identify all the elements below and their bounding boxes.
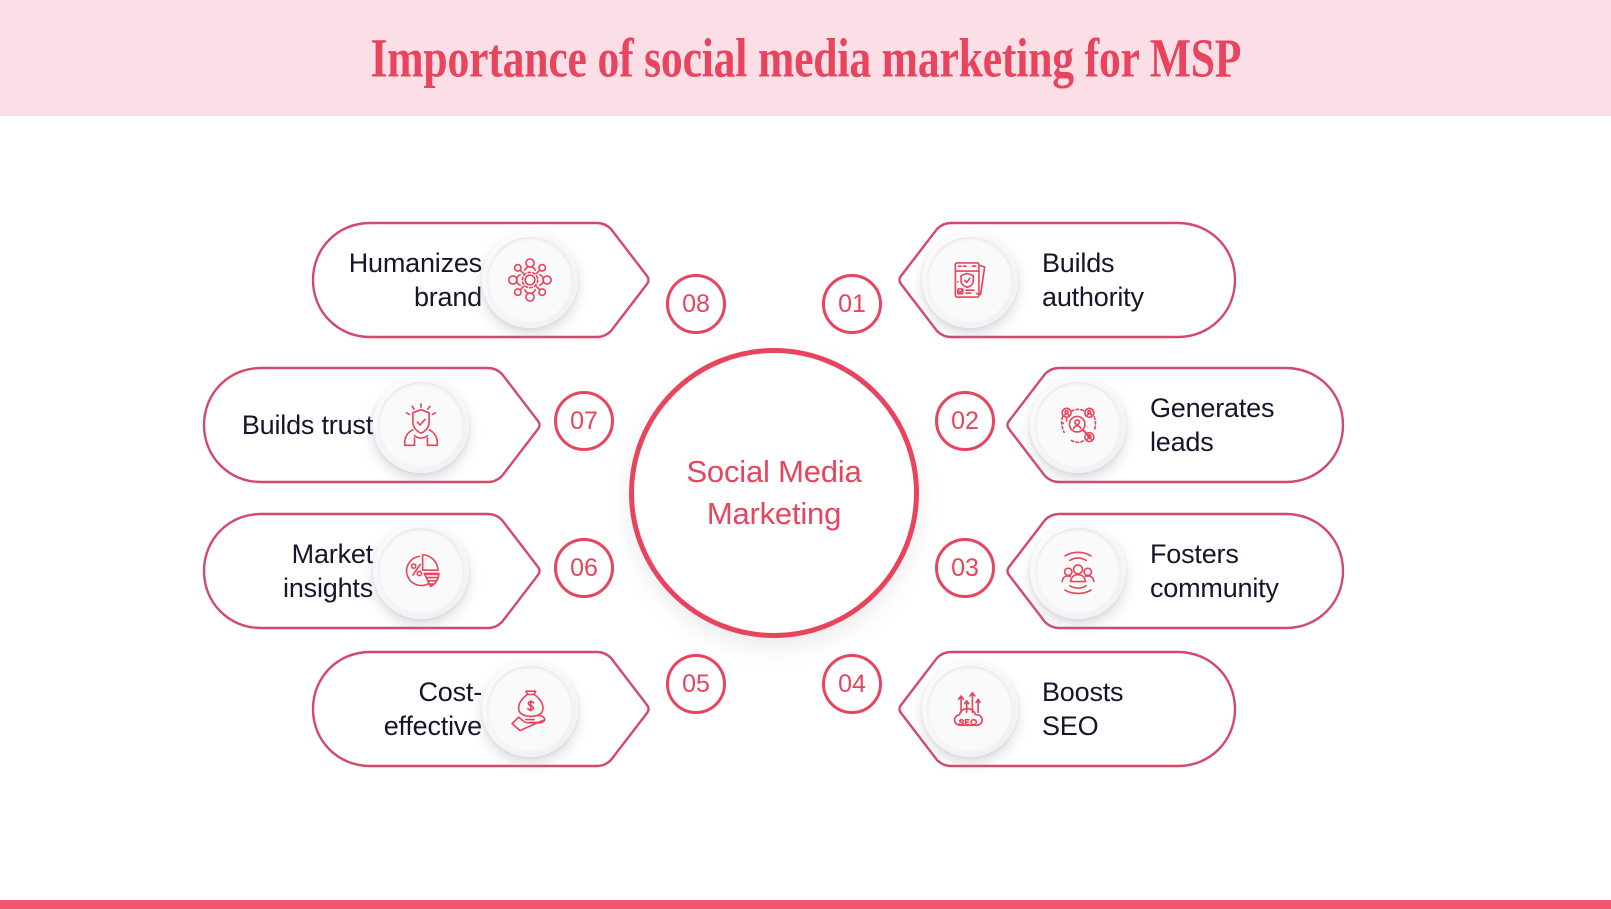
item-pill-03[interactable]: Fosterscommunity xyxy=(1000,512,1345,630)
people-group-arcs-icon xyxy=(1030,523,1126,619)
item-pill-04[interactable]: BoostsSEO xyxy=(892,650,1237,768)
document-shield-checklist-icon xyxy=(922,232,1018,328)
item-label-03: Fosterscommunity xyxy=(1150,537,1311,605)
infographic-root: Importance of social media marketing for… xyxy=(0,0,1611,909)
seo-cloud-growth-icon xyxy=(922,661,1018,757)
item-pill-08[interactable]: Humanizesbrand xyxy=(311,221,656,339)
item-label-02: Generatesleads xyxy=(1150,391,1311,459)
item-pill-05[interactable]: Cost-effective xyxy=(311,650,656,768)
page-title: Importance of social media marketing for… xyxy=(370,26,1241,89)
center-circle: Social MediaMarketing xyxy=(629,348,919,638)
item-label-07: Builds trust xyxy=(236,408,373,442)
header-band: Importance of social media marketing for… xyxy=(0,0,1611,116)
item-number-07: 07 xyxy=(554,391,614,451)
item-label-05: Cost-effective xyxy=(345,675,482,743)
hand-money-bag-icon xyxy=(482,661,578,757)
center-label: Social MediaMarketing xyxy=(686,451,861,535)
item-label-04: BoostsSEO xyxy=(1042,675,1203,743)
item-label-01: Buildsauthority xyxy=(1042,246,1203,314)
item-pill-07[interactable]: Builds trust xyxy=(202,366,547,484)
item-pill-06[interactable]: Marketinsights xyxy=(202,512,547,630)
item-number-08: 08 xyxy=(666,274,726,334)
item-pill-02[interactable]: Generatesleads xyxy=(1000,366,1345,484)
magnifier-users-target-icon xyxy=(1030,377,1126,473)
item-number-05: 05 xyxy=(666,654,726,714)
item-label-06: Marketinsights xyxy=(236,537,373,605)
item-number-03: 03 xyxy=(935,538,995,598)
item-pill-01[interactable]: Buildsauthority xyxy=(892,221,1237,339)
item-number-01: 01 xyxy=(822,274,882,334)
hands-shield-check-icon xyxy=(373,377,469,473)
pie-chart-percent-icon xyxy=(373,523,469,619)
bottom-accent-bar xyxy=(0,900,1611,909)
item-label-08: Humanizesbrand xyxy=(345,246,482,314)
item-number-04: 04 xyxy=(822,654,882,714)
people-circle-network-icon xyxy=(482,232,578,328)
item-number-02: 02 xyxy=(935,391,995,451)
item-number-06: 06 xyxy=(554,538,614,598)
